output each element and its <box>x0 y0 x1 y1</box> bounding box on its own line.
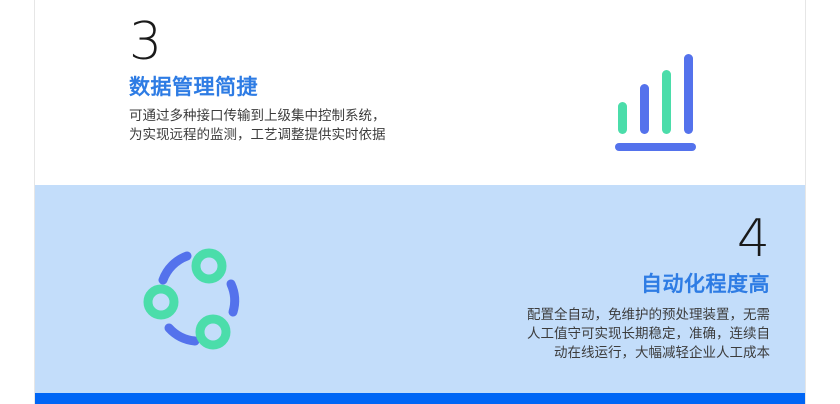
circular-dots-arc-bottom-left <box>169 328 195 341</box>
circular-dots-ring-left <box>148 289 174 315</box>
section-4-text-block: 4 自动化程度高 配置全自动，免维护的预处理装置，无需 人工值守可实现长期稳定，… <box>350 211 770 363</box>
circular-dots-icon <box>141 242 253 354</box>
section-3-body-text: 可通过多种接口传输到上级集中控制系统， 为实现远程的监测，工艺调整提供实时依据 <box>129 107 529 145</box>
bar-chart-bar-2 <box>640 84 649 134</box>
bar-chart-baseline <box>615 143 696 151</box>
page-canvas: 3 数据管理简捷 可通过多种接口传输到上级集中控制系统， 为实现远程的监测，工艺… <box>0 0 840 404</box>
circular-dots-ring-bottom <box>200 319 226 345</box>
section-3-text-block: 3 数据管理简捷 可通过多种接口传输到上级集中控制系统， 为实现远程的监测，工艺… <box>129 14 529 145</box>
circular-dots-arc-top-left <box>163 256 187 280</box>
bar-chart-bar-1 <box>618 102 627 134</box>
section-3-heading: 数据管理简捷 <box>129 73 529 101</box>
section-4-body-text: 配置全自动，免维护的预处理装置，无需 人工值守可实现长期稳定，准确，连续自 动在… <box>350 306 770 363</box>
feature-section-3: 3 数据管理简捷 可通过多种接口传输到上级集中控制系统， 为实现远程的监测，工艺… <box>35 0 805 185</box>
circular-dots-arc-right <box>231 284 235 312</box>
feature-section-4: 4 自动化程度高 配置全自动，免维护的预处理装置，无需 人工值守可实现长期稳定，… <box>35 185 805 393</box>
bar-chart-icon <box>588 52 698 152</box>
bar-chart-bar-3 <box>662 70 671 134</box>
section-4-heading: 自动化程度高 <box>350 270 770 298</box>
circular-dots-ring-top <box>196 253 222 279</box>
bottom-accent-bar <box>35 393 805 404</box>
content-column: 3 数据管理简捷 可通过多种接口传输到上级集中控制系统， 为实现远程的监测，工艺… <box>34 0 806 404</box>
section-3-number: 3 <box>129 14 529 70</box>
section-4-number: 4 <box>350 211 770 267</box>
bar-chart-bar-4 <box>684 54 693 134</box>
